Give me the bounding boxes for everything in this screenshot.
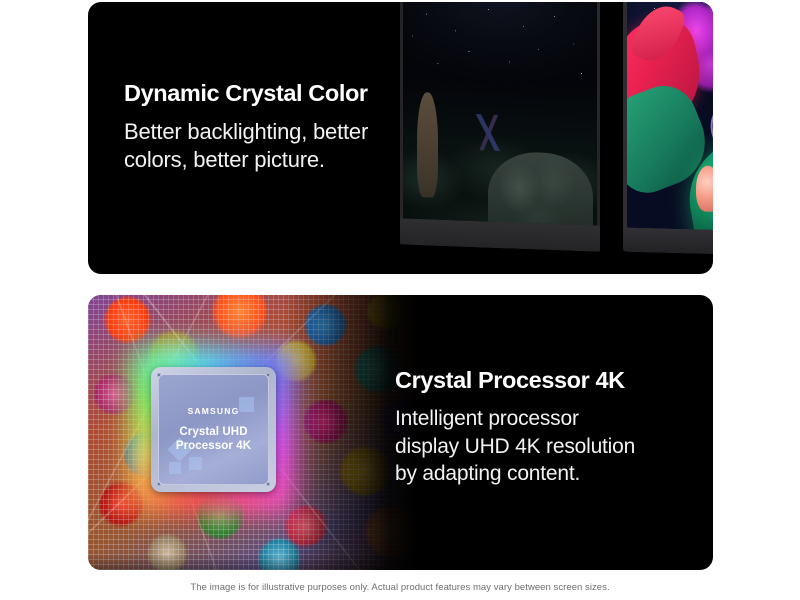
die-square-c (189, 457, 202, 470)
processor-chip: SAMSUNG Crystal UHD Processor 4K (151, 367, 276, 492)
chip-model-line-2: Processor 4K (176, 439, 251, 453)
subtitle-line-2: display UHD 4K resolution (395, 435, 635, 458)
panel-subtitle-crystal-processor-4k: Intelligent processor display UHD 4K res… (395, 405, 695, 488)
subtitle-line-1: Better backlighting, better (124, 119, 368, 144)
neon-jungle-scene-vivid (627, 2, 713, 232)
subtitle-line-2: colors, better picture. (124, 147, 325, 172)
disclaimer-text: The image is for illustrative purposes o… (0, 582, 800, 593)
image-bottom-fade (88, 554, 418, 570)
panel-title-dynamic-crystal-color: Dynamic Crystal Color (124, 80, 504, 107)
chip-brand-label: SAMSUNG (188, 406, 240, 416)
panel-title-crystal-processor-4k: Crystal Processor 4K (395, 367, 695, 394)
vivid-television (623, 2, 713, 256)
chip-package: SAMSUNG Crystal UHD Processor 4K (151, 367, 276, 492)
chip-model-line-1: Crystal UHD (179, 425, 247, 439)
processor-backdrop-image: SAMSUNG Crystal UHD Processor 4K (88, 295, 418, 570)
die-square-d (169, 462, 181, 474)
panel-dynamic-crystal-color: Dynamic Crystal Color Better backlightin… (88, 2, 713, 274)
vivid-television-base (623, 228, 713, 257)
panel-crystal-processor-4k: SAMSUNG Crystal UHD Processor 4K Crystal… (88, 295, 713, 570)
die-square-a (239, 397, 254, 412)
panel-crystal-processor-text: Crystal Processor 4K Intelligent process… (395, 367, 695, 488)
panel-dynamic-crystal-color-text: Dynamic Crystal Color Better backlightin… (124, 80, 504, 174)
chip-die: SAMSUNG Crystal UHD Processor 4K (158, 374, 269, 485)
subtitle-line-3: by adapting content. (395, 462, 580, 485)
vivid-television-screen (627, 2, 713, 232)
promo-page: Dynamic Crystal Color Better backlightin… (0, 0, 800, 600)
panel-subtitle-dynamic-crystal-color: Better backlighting, better colors, bett… (124, 118, 504, 174)
subtitle-line-1: Intelligent processor (395, 407, 579, 430)
coral-flower (696, 165, 713, 212)
